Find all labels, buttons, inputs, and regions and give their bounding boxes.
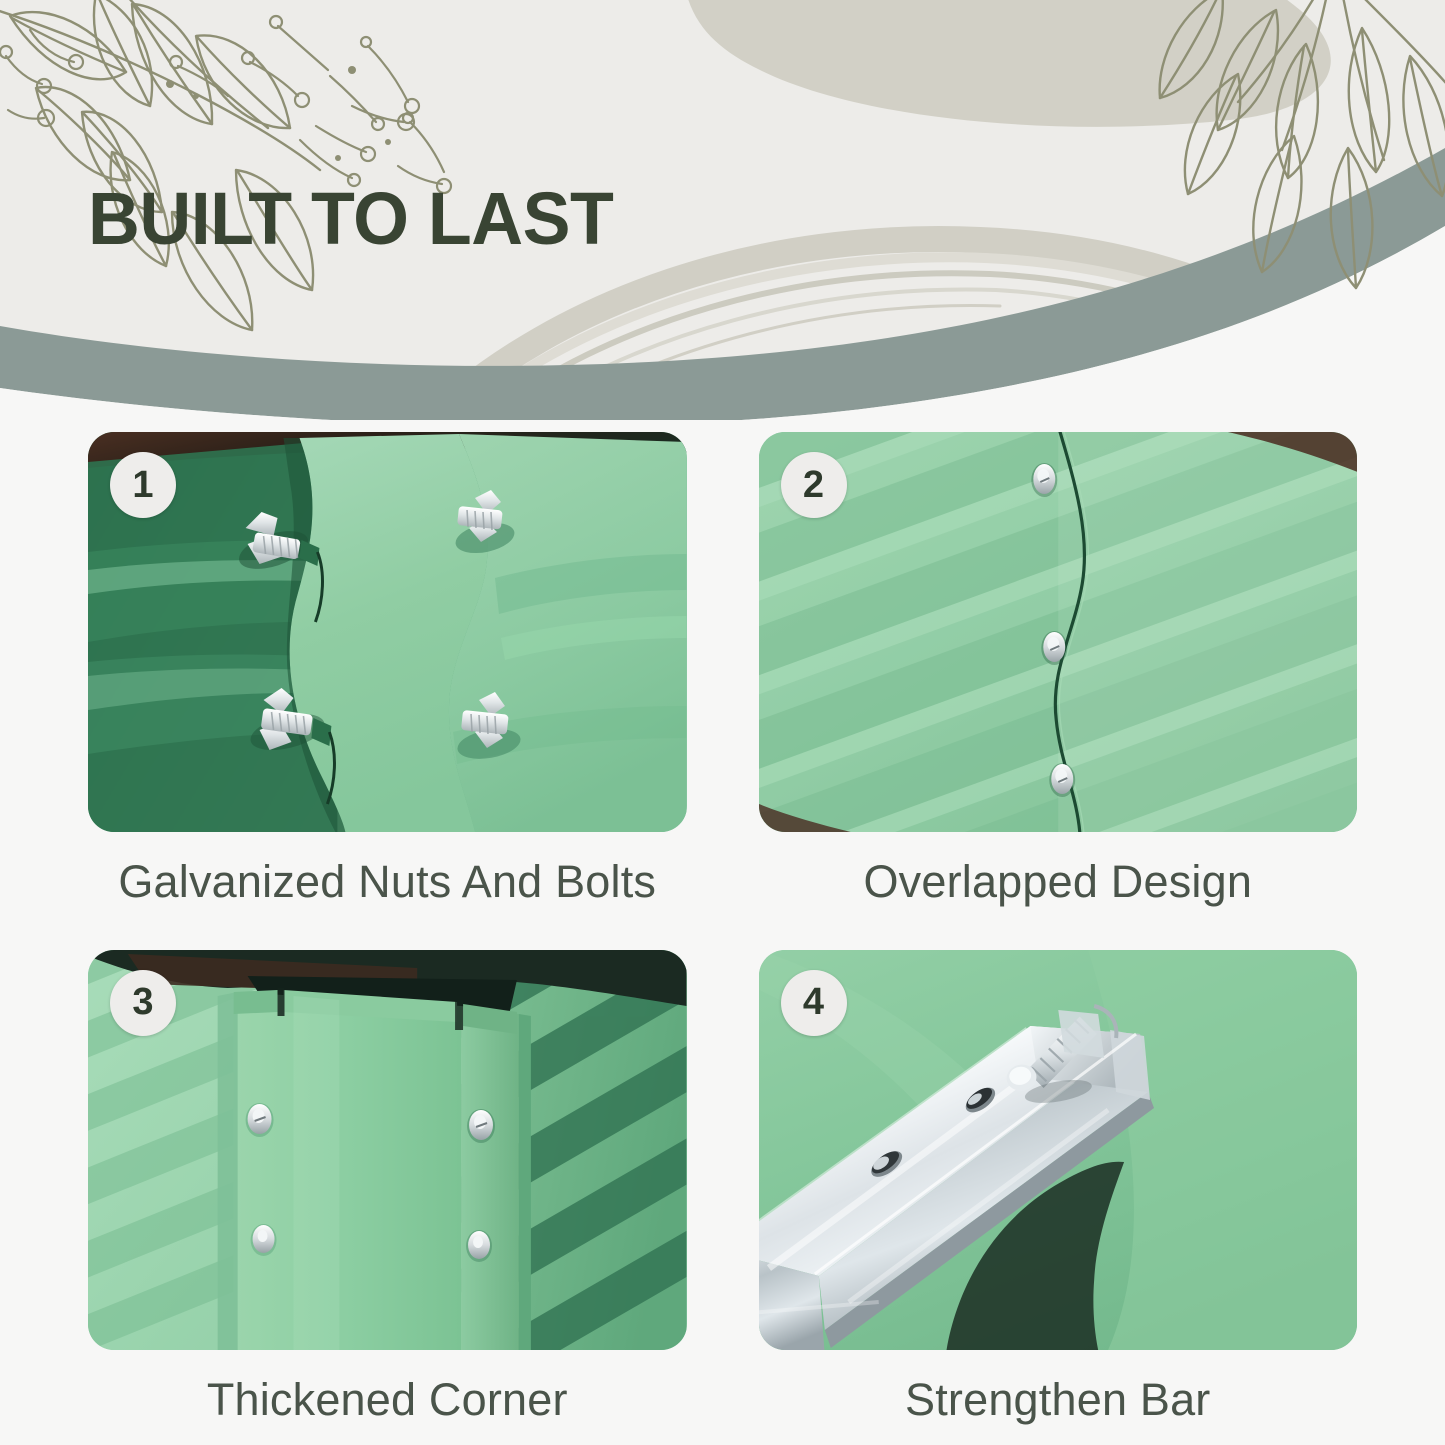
feature-caption-3: Thickened Corner [88,1374,687,1426]
feature-card-2: 2 Overlapped Design [759,432,1358,928]
badge-number-4: 4 [781,970,847,1036]
badge-number-2: 2 [781,452,847,518]
feature-grid: 1 Galvanized Nuts And Bolts [0,432,1445,1445]
strengthen-bar-photo: 4 [759,950,1358,1350]
feature-card-3: 3 Thickened Corner [88,950,687,1445]
feature-caption-2: Overlapped Design [759,856,1358,908]
page-title: BUILT TO LAST [88,176,613,261]
feature-card-1: 1 Galvanized Nuts And Bolts [88,432,687,928]
thickened-corner-photo: 3 [88,950,687,1350]
overlapped-design-photo: 2 [759,432,1358,832]
feature-caption-4: Strengthen Bar [759,1374,1358,1426]
header-banner: BUILT TO LAST [0,0,1445,420]
galvanized-nuts-and-bolts-photo: 1 [88,432,687,832]
badge-number-1: 1 [110,452,176,518]
feature-card-4: 4 Strengthen Bar [759,950,1358,1445]
badge-number-3: 3 [110,970,176,1036]
feature-caption-1: Galvanized Nuts And Bolts [88,856,687,908]
infographic-page: BUILT TO LAST [0,0,1445,1445]
